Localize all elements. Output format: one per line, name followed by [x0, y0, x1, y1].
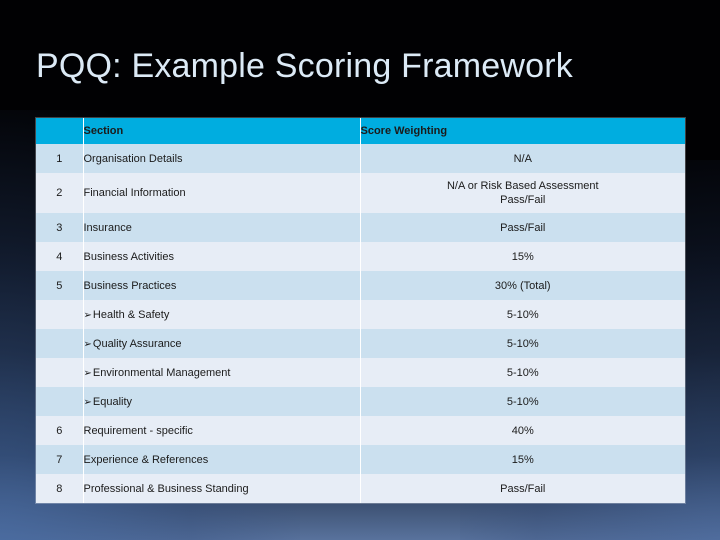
- cell-section-name: Experience & References: [83, 445, 360, 474]
- cell-section-name: Business Activities: [83, 242, 360, 271]
- cell-section-number: [36, 300, 83, 329]
- cell-section-subitem: ➢Quality Assurance: [83, 329, 360, 358]
- table-row: ➢Quality Assurance5-10%: [36, 329, 685, 358]
- arrow-bullet-icon: ➢: [84, 339, 93, 350]
- table-row: 5Business Practices30% (Total): [36, 271, 685, 300]
- cell-score-weighting: N/A: [360, 144, 685, 173]
- cell-section-number: 8: [36, 474, 83, 503]
- cell-score-weighting: 5-10%: [360, 329, 685, 358]
- section-label: Environmental Management: [93, 367, 231, 379]
- cell-section-number: [36, 329, 83, 358]
- cell-score-weighting: N/A or Risk Based AssessmentPass/Fail: [360, 173, 685, 213]
- table-row: 3InsurancePass/Fail: [36, 213, 685, 242]
- score-weighting-line: 5-10%: [361, 337, 686, 351]
- score-weighting-line: 15%: [361, 453, 686, 467]
- cell-score-weighting: Pass/Fail: [360, 213, 685, 242]
- section-label: Equality: [93, 396, 132, 408]
- section-label: Insurance: [84, 222, 132, 234]
- column-header-number: [36, 118, 83, 144]
- arrow-bullet-icon: ➢: [84, 310, 93, 321]
- cell-section-number: 4: [36, 242, 83, 271]
- table-header-row: Section Score Weighting: [36, 118, 685, 144]
- section-label: Quality Assurance: [93, 338, 182, 350]
- cell-score-weighting: 5-10%: [360, 300, 685, 329]
- cell-section-name: Professional & Business Standing: [83, 474, 360, 503]
- page-title: PQQ: Example Scoring Framework: [36, 44, 696, 88]
- cell-section-number: [36, 387, 83, 416]
- cell-section-name: Financial Information: [83, 173, 360, 213]
- cell-section-name: Requirement - specific: [83, 416, 360, 445]
- score-weighting-line: Pass/Fail: [361, 193, 686, 207]
- table-header: Section Score Weighting: [36, 118, 685, 144]
- scoring-framework-table: Section Score Weighting 1Organisation De…: [36, 118, 685, 503]
- table-row: ➢Health & Safety5-10%: [36, 300, 685, 329]
- score-weighting-line: 5-10%: [361, 366, 686, 380]
- score-weighting-line: N/A or Risk Based Assessment: [361, 179, 686, 193]
- column-header-score: Score Weighting: [360, 118, 685, 144]
- cell-section-name: Organisation Details: [83, 144, 360, 173]
- score-weighting-line: Pass/Fail: [361, 221, 686, 235]
- cell-score-weighting: Pass/Fail: [360, 474, 685, 503]
- cell-section-name: Business Practices: [83, 271, 360, 300]
- score-weighting-line: 5-10%: [361, 308, 686, 322]
- arrow-bullet-icon: ➢: [84, 397, 93, 408]
- cell-section-subitem: ➢Environmental Management: [83, 358, 360, 387]
- cell-section-name: Insurance: [83, 213, 360, 242]
- cell-section-subitem: ➢Equality: [83, 387, 360, 416]
- table-row: 7Experience & References15%: [36, 445, 685, 474]
- cell-score-weighting: 5-10%: [360, 387, 685, 416]
- table-row: 8Professional & Business StandingPass/Fa…: [36, 474, 685, 503]
- section-label: Financial Information: [84, 187, 186, 199]
- score-weighting-line: 5-10%: [361, 395, 686, 409]
- table-row: ➢Equality5-10%: [36, 387, 685, 416]
- cell-score-weighting: 15%: [360, 445, 685, 474]
- table-row: 6Requirement - specific40%: [36, 416, 685, 445]
- table-row: ➢Environmental Management5-10%: [36, 358, 685, 387]
- cell-score-weighting: 15%: [360, 242, 685, 271]
- section-label: Requirement - specific: [84, 425, 193, 437]
- cell-section-number: 3: [36, 213, 83, 242]
- section-label: Business Practices: [84, 280, 177, 292]
- arrow-bullet-icon: ➢: [84, 368, 93, 379]
- table-row: 4Business Activities15%: [36, 242, 685, 271]
- score-weighting-line: 15%: [361, 250, 686, 264]
- cell-score-weighting: 5-10%: [360, 358, 685, 387]
- section-label: Experience & References: [84, 454, 209, 466]
- cell-section-number: 6: [36, 416, 83, 445]
- section-label: Health & Safety: [93, 309, 169, 321]
- cell-section-number: 5: [36, 271, 83, 300]
- score-weighting-line: 30% (Total): [361, 279, 686, 293]
- cell-section-number: 7: [36, 445, 83, 474]
- score-weighting-line: Pass/Fail: [361, 482, 686, 496]
- section-label: Organisation Details: [84, 153, 183, 165]
- cell-section-number: 2: [36, 173, 83, 213]
- section-label: Business Activities: [84, 251, 174, 263]
- score-weighting-line: N/A: [361, 152, 686, 166]
- table-body: 1Organisation DetailsN/A2Financial Infor…: [36, 144, 685, 503]
- cell-section-number: [36, 358, 83, 387]
- score-weighting-line: 40%: [361, 424, 686, 438]
- column-header-section: Section: [83, 118, 360, 144]
- cell-score-weighting: 30% (Total): [360, 271, 685, 300]
- table-row: 2Financial InformationN/A or Risk Based …: [36, 173, 685, 213]
- section-label: Professional & Business Standing: [84, 483, 249, 495]
- slide: PQQ: Example Scoring Framework Section S…: [0, 0, 720, 540]
- table-row: 1Organisation DetailsN/A: [36, 144, 685, 173]
- cell-score-weighting: 40%: [360, 416, 685, 445]
- cell-section-number: 1: [36, 144, 83, 173]
- cell-section-subitem: ➢Health & Safety: [83, 300, 360, 329]
